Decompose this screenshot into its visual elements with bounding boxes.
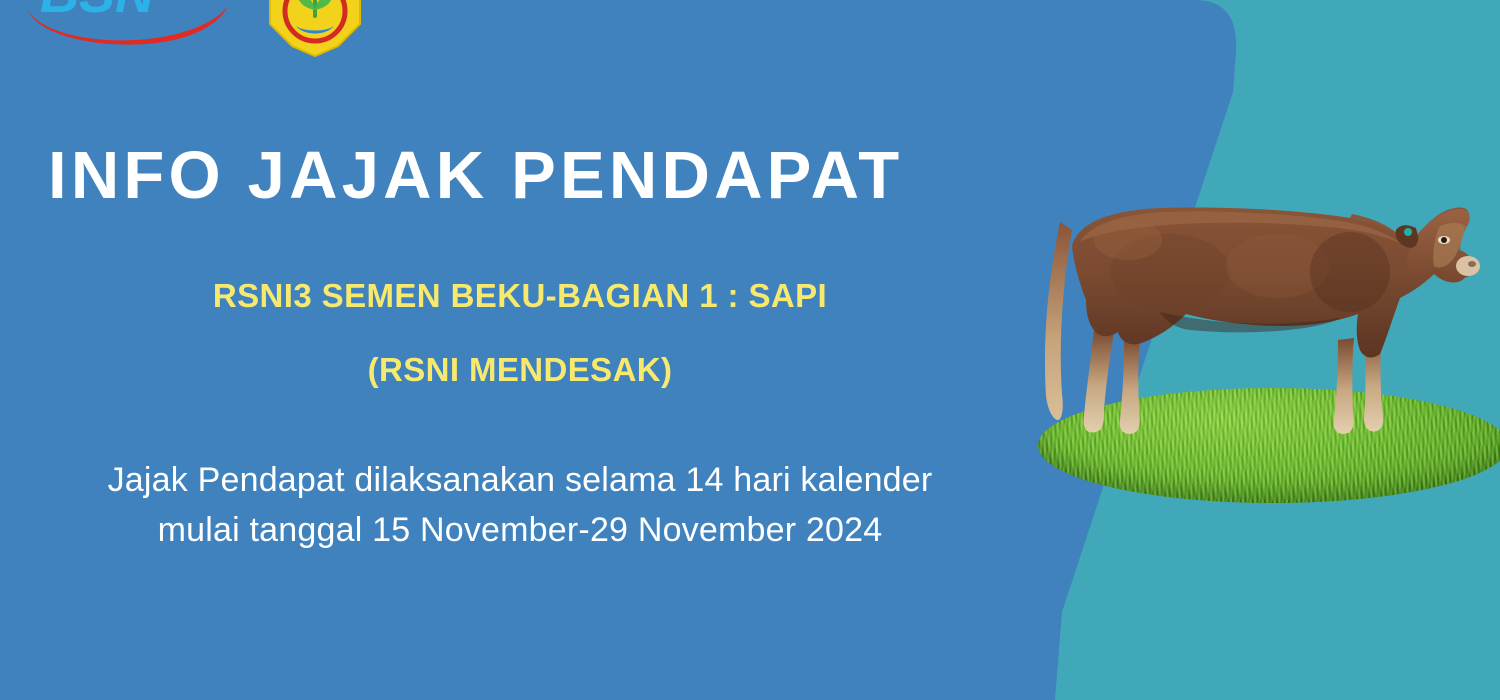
svg-text:BSN: BSN — [40, 0, 155, 24]
logo-row: BSN BSN IPB — [14, 0, 370, 58]
text-content: INFO JAJAK PENDAPAT RSNI3 SEMEN BEKU-BAG… — [0, 0, 1040, 700]
subtitle-line-2: (RSNI MENDESAK) — [0, 352, 1040, 388]
subtitle-block: RSNI3 SEMEN BEKU-BAGIAN 1 : SAPI (RSNI M… — [0, 278, 1040, 389]
subtitle-line-1: RSNI3 SEMEN BEKU-BAGIAN 1 : SAPI — [0, 278, 1040, 314]
bsn-logo: BSN BSN — [14, 0, 244, 48]
page-title: INFO JAJAK PENDAPAT — [48, 142, 903, 209]
bull-illustration — [1020, 180, 1500, 520]
ipb-logo: IPB — [260, 0, 370, 58]
body-line-1: Jajak Pendapat dilaksanakan selama 14 ha… — [0, 456, 1040, 506]
body-line-2: mulai tanggal 15 November-29 November 20… — [0, 506, 1040, 556]
body-block: Jajak Pendapat dilaksanakan selama 14 ha… — [0, 456, 1040, 555]
bull-photo — [1020, 180, 1500, 520]
poster-canvas: BSN BSN IPB INFO — [0, 0, 1500, 700]
